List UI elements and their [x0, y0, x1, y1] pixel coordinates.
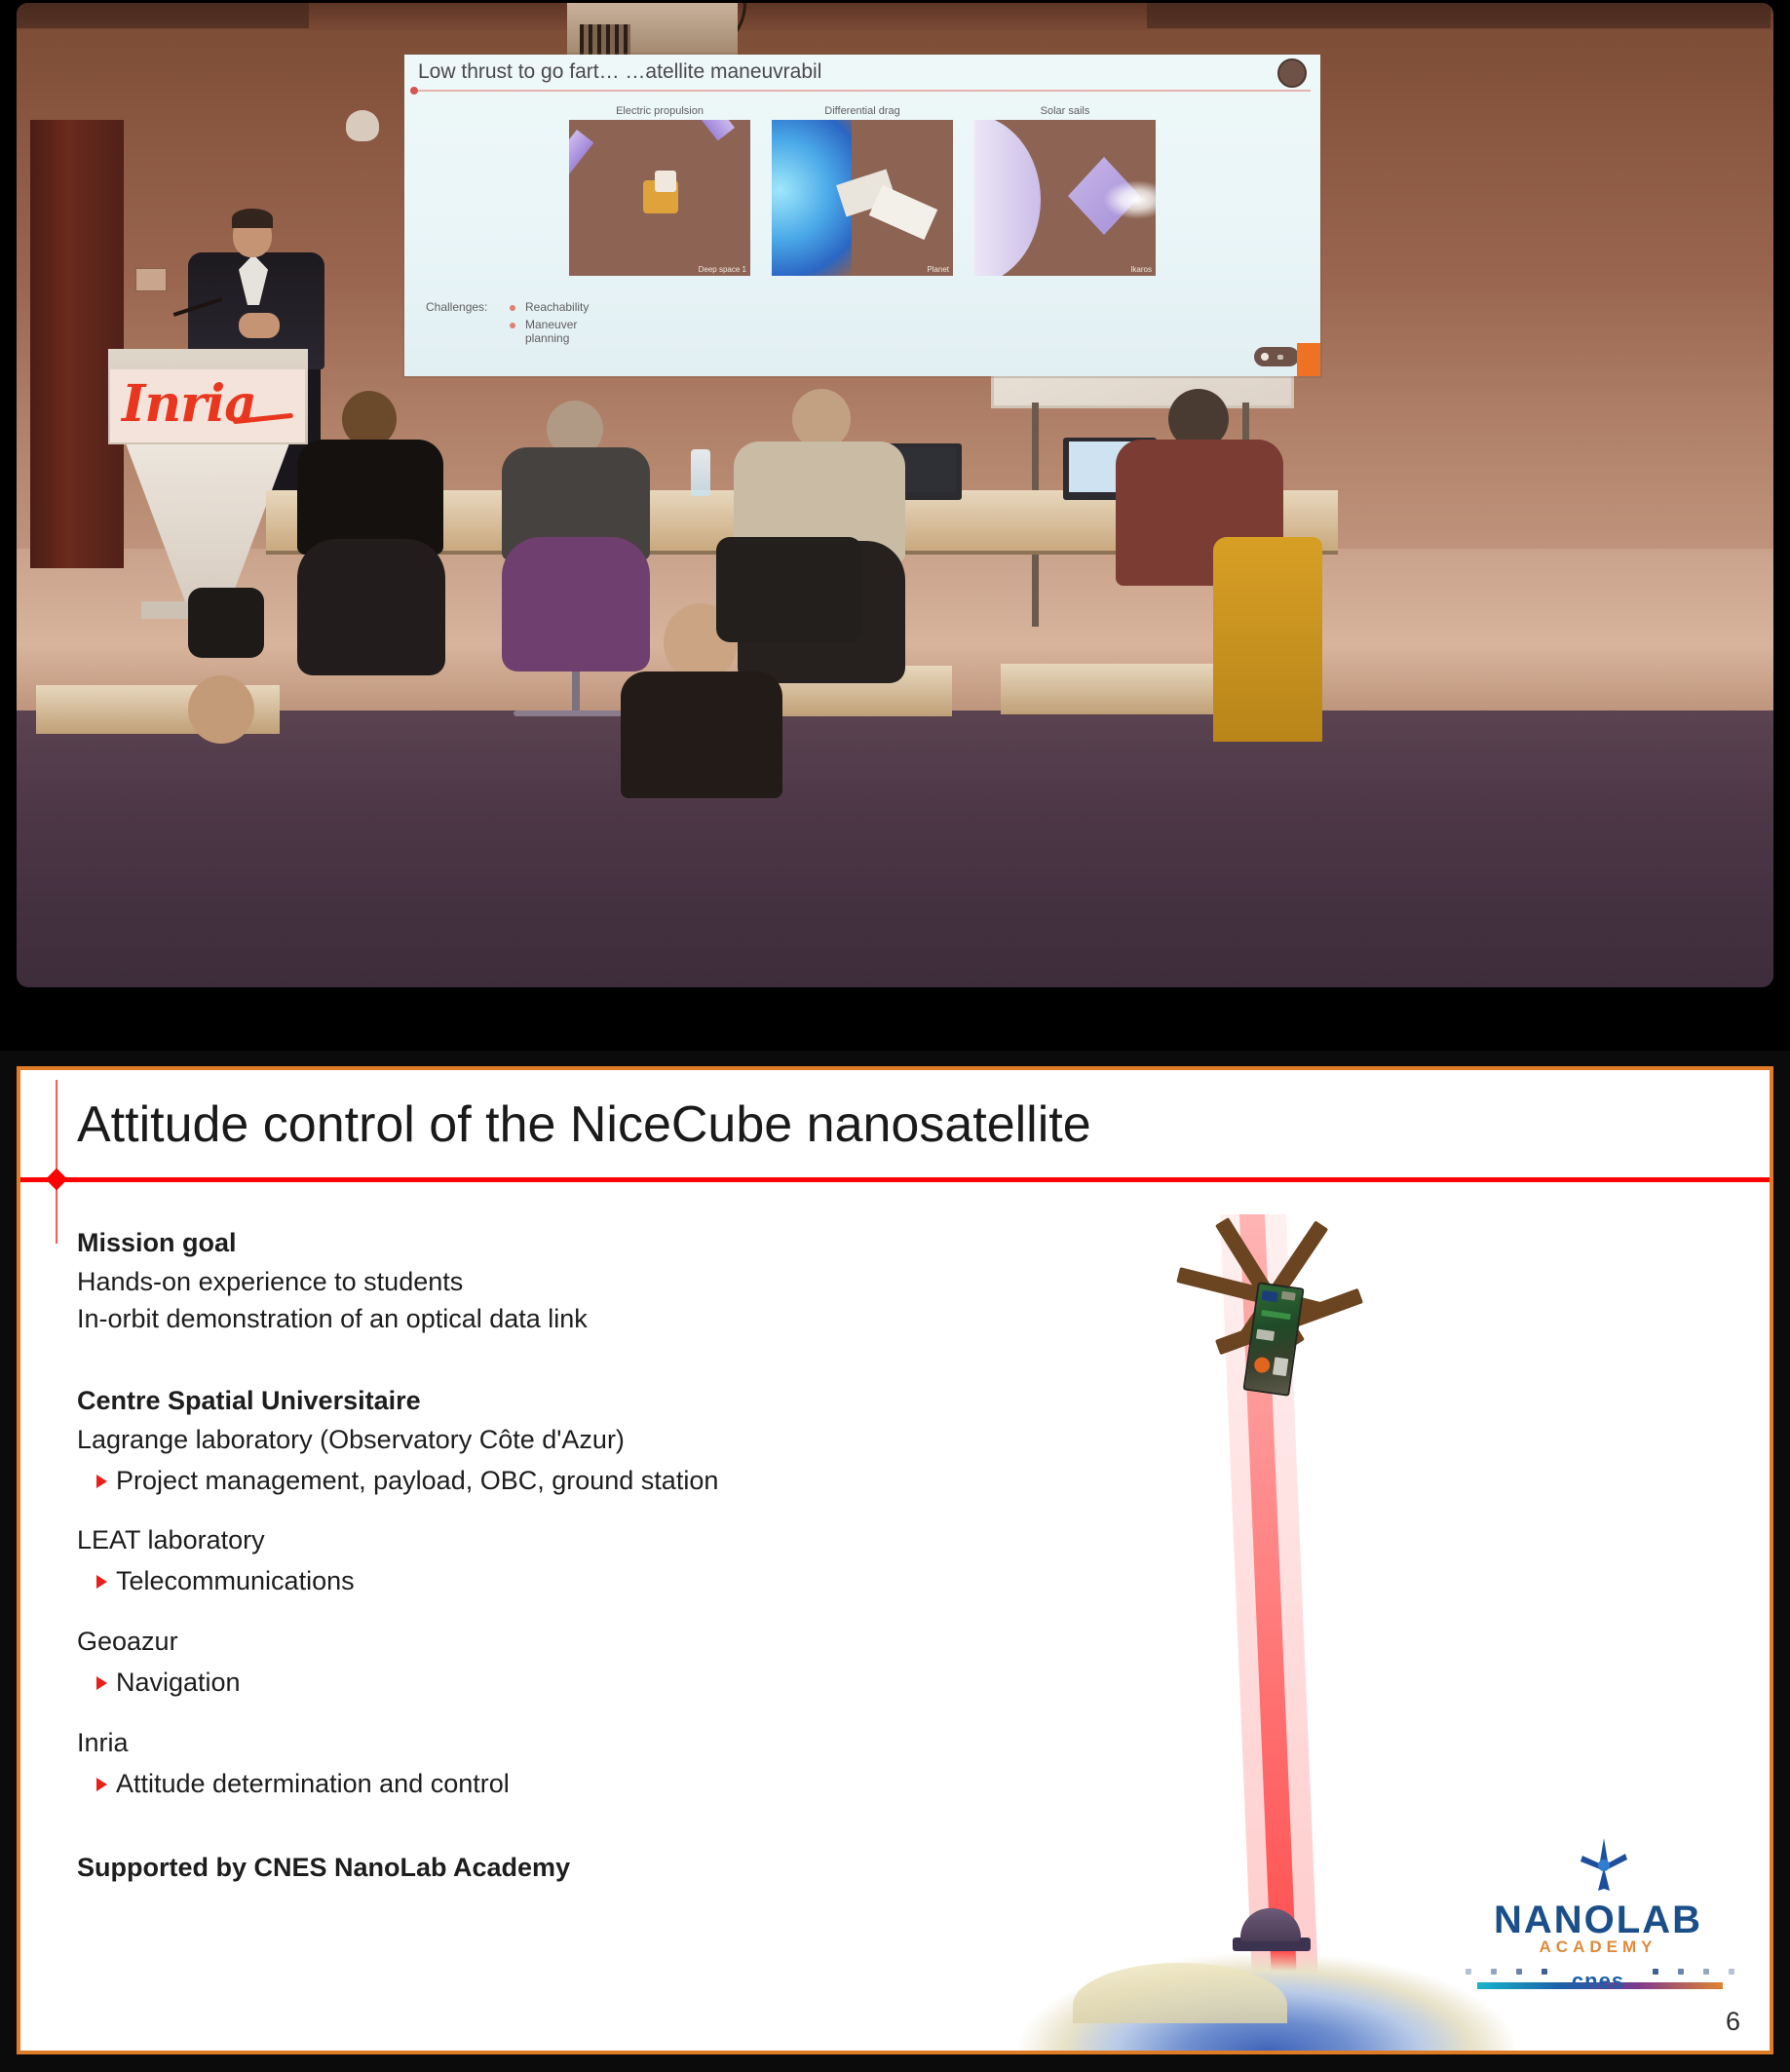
audience-torso: [621, 671, 782, 798]
audience-head: [792, 389, 851, 449]
inria-logo: Inria: [122, 373, 293, 436]
lab-name-geoazur: Geoazur: [77, 1625, 934, 1660]
wall-plate: [135, 268, 167, 291]
projected-challenge-item: Reachability: [510, 300, 589, 314]
lecture-video-panel: Low thrust to go fart… …atellite maneuvr…: [0, 0, 1790, 1035]
satellite-pcb-chip: [1253, 1357, 1271, 1374]
lab-name-lagrange: Lagrange laboratory (Observatory Côte d'…: [77, 1423, 934, 1458]
chair-base: [514, 710, 638, 716]
cnes-wordmark: cnes: [1452, 1969, 1744, 1994]
audience-chair: [502, 537, 650, 671]
projected-card-caption: Planet: [927, 265, 949, 274]
title-vertical-rule: [56, 1080, 57, 1244]
slide: Attitude control of the NiceCube nanosat…: [17, 1066, 1773, 2054]
ceiling-panel-left: [17, 3, 309, 28]
spacer: [77, 1703, 934, 1726]
nanolab-star-icon: [1575, 1836, 1633, 1895]
mission-goal-line-2: In-orbit demonstration of an optical dat…: [77, 1302, 934, 1337]
audience-head: [188, 675, 254, 744]
slide-title: Attitude control of the NiceCube nanosat…: [77, 1095, 1091, 1154]
projected-challenges-list: Reachability Maneuver planning: [510, 300, 589, 349]
audience-chair: [297, 539, 445, 675]
title-diamond-marker: [46, 1169, 68, 1191]
water-bottle: [691, 449, 710, 496]
room-floor: [17, 710, 1773, 987]
projected-card-1: Differential drag Planet: [772, 105, 953, 290]
mission-goal-heading: Mission goal: [77, 1226, 934, 1261]
lab-bullet-leat: Telecommunications: [77, 1564, 934, 1599]
presenter-hands: [239, 313, 280, 338]
mission-goal-line-1: Hands-on experience to students: [77, 1265, 934, 1300]
room-door: [30, 120, 124, 568]
projected-card-label: Differential drag: [772, 105, 953, 120]
spacer: [77, 1339, 934, 1384]
yellow-coat-on-chair: [1213, 537, 1322, 742]
differential-drag-image: Planet: [772, 120, 953, 276]
ceiling-speaker: [346, 110, 379, 141]
presentation-slide-panel: Attitude control of the NiceCube nanosat…: [0, 1051, 1790, 2072]
slide-body: Mission goal Hands-on experience to stud…: [77, 1226, 934, 1886]
lab-bullet-geoazur: Navigation: [77, 1666, 934, 1701]
presenter-hair: [232, 209, 273, 228]
title-horizontal-rule: [20, 1177, 1770, 1182]
projected-slide-title: Low thrust to go fart… …atellite maneuvr…: [418, 60, 1307, 86]
supported-by-text: Supported by CNES NanoLab Academy: [77, 1851, 934, 1886]
lab-name-leat: LEAT laboratory: [77, 1523, 934, 1558]
chair-stem: [572, 671, 580, 714]
projected-card-2: Solar sails Ikaros: [974, 105, 1156, 290]
lab-name-inria: Inria: [77, 1726, 934, 1761]
satellite-pcb-chip: [1281, 1291, 1296, 1301]
spacer: [77, 1601, 934, 1625]
slide-page-number: 6: [1726, 2007, 1740, 2037]
projected-card-caption: Deep space 1: [699, 265, 746, 274]
nanolab-wordmark: NANOLAB: [1452, 1899, 1744, 1942]
satellite-pcb-chip: [1273, 1357, 1288, 1376]
projected-slide-badge-icon: [1277, 58, 1307, 88]
projection-screen: Low thrust to go fart… …atellite maneuvr…: [404, 55, 1320, 376]
lab-bullet-inria: Attitude determination and control: [77, 1767, 934, 1802]
spacer: [77, 1500, 934, 1523]
video-frame: Low thrust to go fart… …atellite maneuvr…: [17, 3, 1773, 987]
projected-slide-cards: Electric propulsion Deep space 1 Differe…: [422, 105, 1303, 290]
backpack-floor-center: [716, 537, 862, 642]
lab-bullet-lagrange: Project management, payload, OBC, ground…: [77, 1464, 934, 1499]
projected-card-caption: Ikaros: [1130, 265, 1152, 274]
satellite-pcb-chip: [1256, 1329, 1275, 1341]
electric-propulsion-image: Deep space 1: [569, 120, 750, 276]
projected-card-label: Electric propulsion: [569, 105, 750, 120]
solar-sails-image: Ikaros: [974, 120, 1156, 276]
satellite-pcb-chip: [1261, 1290, 1277, 1302]
satellite-pcb-chip: [1261, 1310, 1291, 1320]
nanolab-academy-logo: NANOLAB ACADEMY cnes: [1452, 1836, 1744, 1982]
csu-heading: Centre Spatial Universitaire: [77, 1384, 934, 1419]
projected-slide-orange-corner: [1297, 343, 1320, 376]
projected-card-0: Electric propulsion Deep space 1: [569, 105, 750, 290]
projected-challenges-label: Challenges:: [426, 300, 487, 314]
audience-torso: [297, 440, 443, 555]
ceiling-panel-right: [1147, 3, 1771, 28]
backpack-floor-left: [188, 588, 264, 658]
projected-slide-rule: [414, 90, 1311, 92]
projected-card-label: Solar sails: [974, 105, 1156, 120]
projected-challenge-item: Maneuver planning: [510, 318, 589, 345]
projected-slide-pill-icon: [1254, 347, 1299, 366]
nanolab-subtitle: ACADEMY: [1452, 1938, 1744, 1957]
